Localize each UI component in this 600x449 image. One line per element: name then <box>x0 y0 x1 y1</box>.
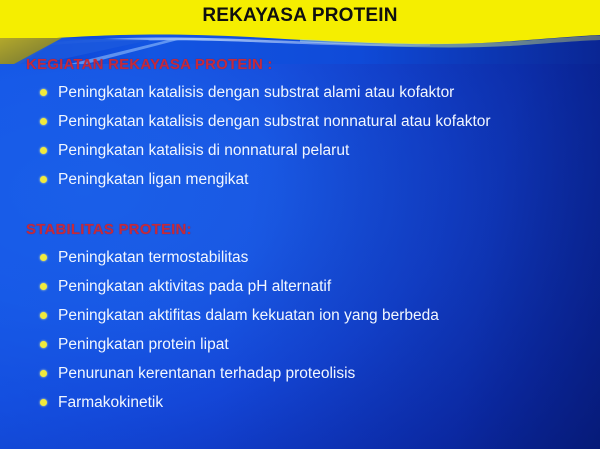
bullet-dot-icon <box>40 118 47 125</box>
bullet-dot-icon <box>40 147 47 154</box>
list-item-label: Peningkatan ligan mengikat <box>58 165 248 194</box>
list-item-label: Peningkatan katalisis di nonnatural pela… <box>58 136 349 165</box>
section-heading-kegiatan: KEGIATAN REKAYASA PROTEIN : <box>26 56 600 73</box>
bullet-list-stabilitas: Peningkatan termostabilitas Peningkatan … <box>0 243 600 417</box>
presentation-slide: REKAYASA PROTEIN <box>0 0 600 449</box>
list-item-label: Peningkatan termostabilitas <box>58 243 248 272</box>
list-item-label: Penurunan kerentanan terhadap proteolisi… <box>58 359 355 388</box>
bullet-dot-icon <box>40 399 47 406</box>
bullet-dot-icon <box>40 370 47 377</box>
bullet-dot-icon <box>40 341 47 348</box>
list-item-label: Peningkatan katalisis dengan substrat no… <box>58 107 491 136</box>
section-spacer <box>0 194 600 221</box>
list-item: Peningkatan protein lipat <box>40 330 600 359</box>
slide-content: KEGIATAN REKAYASA PROTEIN : Peningkatan … <box>0 56 600 417</box>
list-item: Peningkatan katalisis di nonnatural pela… <box>40 136 600 165</box>
list-item: Peningkatan ligan mengikat <box>40 165 600 194</box>
bullet-list-kegiatan: Peningkatan katalisis dengan substrat al… <box>0 78 600 194</box>
list-item: Penurunan kerentanan terhadap proteolisi… <box>40 359 600 388</box>
bullet-dot-icon <box>40 176 47 183</box>
bullet-dot-icon <box>40 89 47 96</box>
bullet-dot-icon <box>40 283 47 290</box>
section-kegiatan: KEGIATAN REKAYASA PROTEIN : Peningkatan … <box>0 56 600 194</box>
list-item-label: Peningkatan aktifitas dalam kekuatan ion… <box>58 301 439 330</box>
list-item-label: Farmakokinetik <box>58 388 163 417</box>
list-item: Peningkatan katalisis dengan substrat al… <box>40 78 600 107</box>
list-item: Peningkatan aktivitas pada pH alternatif <box>40 272 600 301</box>
list-item: Farmakokinetik <box>40 388 600 417</box>
bullet-dot-icon <box>40 254 47 261</box>
page-title: REKAYASA PROTEIN <box>0 5 600 27</box>
list-item-label: Peningkatan aktivitas pada pH alternatif <box>58 272 331 301</box>
section-heading-stabilitas: STABILITAS PROTEIN: <box>26 221 600 238</box>
list-item: Peningkatan aktifitas dalam kekuatan ion… <box>40 301 600 330</box>
list-item: Peningkatan termostabilitas <box>40 243 600 272</box>
list-item: Peningkatan katalisis dengan substrat no… <box>40 107 600 136</box>
list-item-label: Peningkatan protein lipat <box>58 330 229 359</box>
list-item-label: Peningkatan katalisis dengan substrat al… <box>58 78 454 107</box>
section-stabilitas: STABILITAS PROTEIN: Peningkatan termosta… <box>0 221 600 417</box>
bullet-dot-icon <box>40 312 47 319</box>
